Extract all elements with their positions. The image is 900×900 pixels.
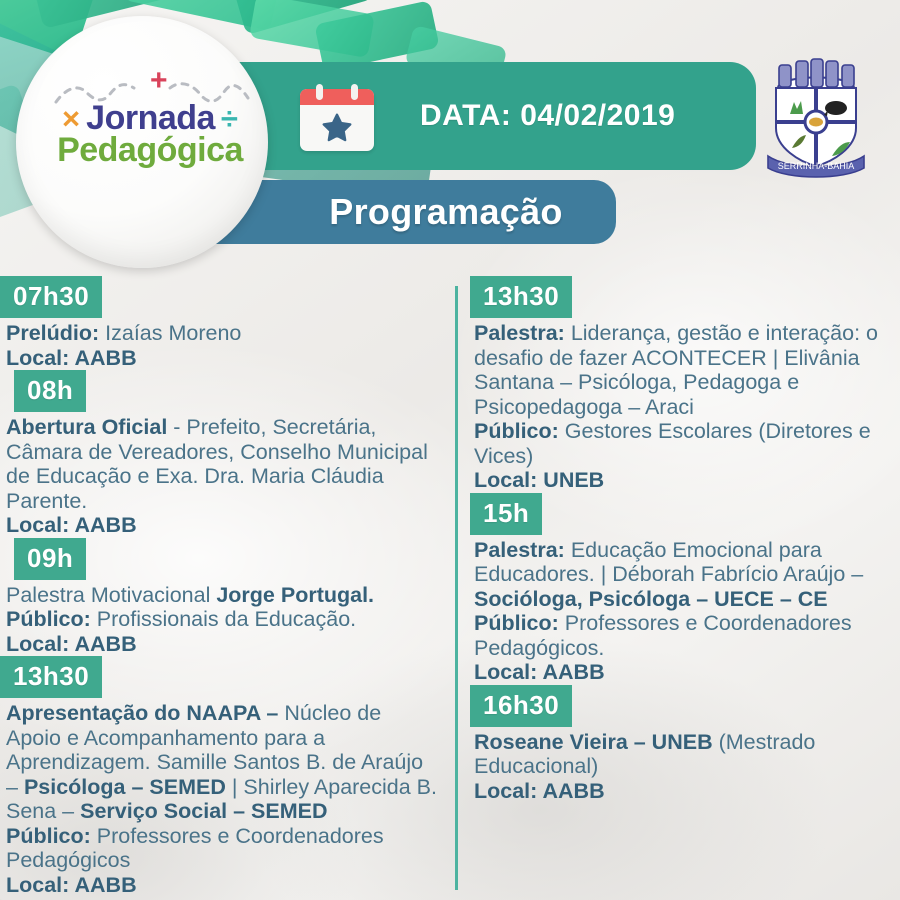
calendar-star-icon: [300, 89, 374, 151]
schedule-detail-line: Local: AABB: [474, 660, 892, 685]
logo-word-pedagogica: Pedagógica: [57, 133, 243, 167]
detail-emphasis: Local: AABB: [474, 779, 605, 803]
schedule-detail-line: Apresentação do NAAPA – Núcleo de Apoio …: [6, 701, 440, 824]
coat-of-arms-city: SERRINHA-BAHIA: [778, 161, 855, 171]
header: DATA: 04/02/2019 Programação + × Jornada…: [0, 0, 900, 270]
schedule-entry-detail: Palestra Motivacional Jorge Portugal.Púb…: [0, 583, 440, 657]
schedule-column-morning: 07h30Prelúdio: Izaías MorenoLocal: AABB0…: [0, 276, 440, 897]
morning-time-badge: 07h30: [0, 276, 102, 318]
schedule-detail-line: Local: AABB: [6, 632, 440, 657]
schedule-entry-detail: Abertura Oficial - Prefeito, Secretária,…: [0, 415, 440, 538]
detail-emphasis: Abertura Oficial: [6, 415, 167, 439]
schedule-detail-line: Público: Profissionais da Educação.: [6, 607, 440, 632]
jornada-pedagogica-logo: + × Jornada ÷ Pedagógica: [34, 62, 266, 192]
detail-emphasis: Local: AABB: [6, 346, 137, 370]
schedule-detail-line: Público: Professores e Coordenadores Ped…: [6, 824, 440, 873]
detail-emphasis: Roseane Vieira – UNEB: [474, 730, 713, 754]
schedule-detail-line: Local: AABB: [6, 513, 440, 538]
detail-emphasis: Público:: [6, 824, 91, 848]
calendar-ring-right: [351, 84, 358, 100]
schedule-detail-line: Local: AABB: [474, 779, 892, 804]
coat-of-arms-serrinha-bahia: SERRINHA-BAHIA: [762, 52, 870, 178]
date-banner: DATA: 04/02/2019: [196, 62, 756, 170]
detail-emphasis: Local: AABB: [474, 660, 605, 684]
schedule-entry: 07h30Prelúdio: Izaías MorenoLocal: AABB: [0, 276, 440, 370]
schedule-detail-line: Público: Professores e Coordenadores Ped…: [474, 611, 892, 660]
schedule-detail-line: Local: AABB: [6, 873, 440, 898]
schedule-detail-line: Palestra Motivacional Jorge Portugal.: [6, 583, 440, 608]
detail-emphasis: Palestra:: [474, 321, 565, 345]
schedule-entry-detail: Palestra: Educação Emocional para Educad…: [462, 538, 892, 685]
schedule-detail-line: Roseane Vieira – UNEB (Mestrado Educacio…: [474, 730, 892, 779]
detail-emphasis: Palestra:: [474, 538, 565, 562]
detail-emphasis: Socióloga, Psicóloga – UECE – CE: [474, 587, 828, 611]
detail-text: Izaías Moreno: [99, 321, 241, 345]
schedule-entry: 13h30Apresentação do NAAPA – Núcleo de A…: [0, 656, 440, 897]
schedule-entry-detail: Palestra: Liderança, gestão e interação:…: [462, 321, 892, 493]
calendar-top-bar: [300, 89, 374, 105]
detail-text: Palestra Motivacional: [6, 583, 216, 607]
detail-emphasis: Público:: [6, 607, 91, 631]
section-title: Programação: [329, 191, 562, 233]
afternoon-time-badge: 16h30: [470, 685, 572, 727]
detail-emphasis: Local: AABB: [6, 873, 137, 897]
schedule-entry: 08hAbertura Oficial - Prefeito, Secretár…: [0, 370, 440, 538]
schedule-entry-detail: Apresentação do NAAPA – Núcleo de Apoio …: [0, 701, 440, 897]
date-label: DATA: 04/02/2019: [420, 99, 675, 133]
schedule-detail-line: Abertura Oficial - Prefeito, Secretária,…: [6, 415, 440, 513]
morning-time-badge: 09h: [14, 538, 86, 580]
detail-emphasis: Prelúdio:: [6, 321, 99, 345]
schedule-column-afternoon: 13h30Palestra: Liderança, gestão e inter…: [462, 276, 892, 803]
schedule-entry-detail: Roseane Vieira – UNEB (Mestrado Educacio…: [462, 730, 892, 804]
morning-time-badge: 08h: [14, 370, 86, 412]
schedule-body: 07h30Prelúdio: Izaías MorenoLocal: AABB0…: [0, 276, 900, 900]
detail-emphasis: Local: AABB: [6, 513, 137, 537]
schedule-detail-line: Prelúdio: Izaías Moreno: [6, 321, 440, 346]
detail-text: Profissionais da Educação.: [91, 607, 356, 631]
schedule-detail-line: Local: UNEB: [474, 468, 892, 493]
schedule-detail-line: Palestra: Liderança, gestão e interação:…: [474, 321, 892, 419]
afternoon-time-badge: 15h: [470, 493, 542, 535]
morning-time-badge: 13h30: [0, 656, 102, 698]
schedule-detail-line: Local: AABB: [6, 346, 440, 371]
schedule-entry: 16h30Roseane Vieira – UNEB (Mestrado Edu…: [462, 685, 892, 804]
detail-emphasis: Serviço Social – SEMED: [80, 799, 327, 823]
detail-emphasis: Público:: [474, 419, 559, 443]
schedule-detail-line: Palestra: Educação Emocional para Educad…: [474, 538, 892, 612]
schedule-entry-detail: Prelúdio: Izaías MorenoLocal: AABB: [0, 321, 440, 370]
calendar-ring-left: [316, 84, 323, 100]
schedule-entry: 09hPalestra Motivacional Jorge Portugal.…: [0, 538, 440, 657]
detail-emphasis: Local: AABB: [6, 632, 137, 656]
logo-plus-icon: +: [150, 66, 168, 96]
afternoon-time-badge: 13h30: [470, 276, 572, 318]
schedule-detail-line: Público: Gestores Escolares (Diretores e…: [474, 419, 892, 468]
detail-emphasis: Jorge Portugal.: [216, 583, 374, 607]
column-divider: [455, 286, 458, 890]
detail-emphasis: Local: UNEB: [474, 468, 604, 492]
schedule-entry: 15hPalestra: Educação Emocional para Edu…: [462, 493, 892, 685]
detail-emphasis: Apresentação do NAAPA –: [6, 701, 278, 725]
detail-emphasis: Público:: [474, 611, 559, 635]
schedule-entry: 13h30Palestra: Liderança, gestão e inter…: [462, 276, 892, 493]
detail-emphasis: Psicóloga – SEMED: [24, 775, 226, 799]
star-icon: [319, 111, 355, 145]
